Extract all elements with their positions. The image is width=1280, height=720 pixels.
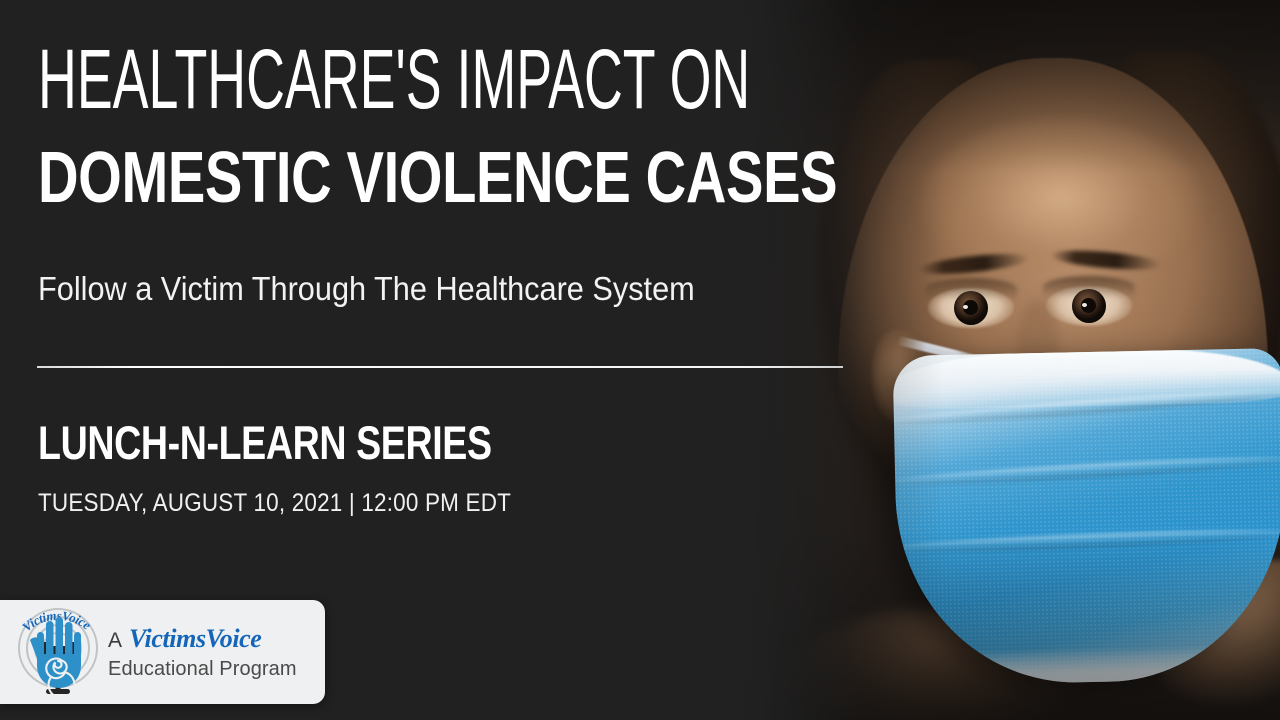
event-datetime: TUESDAY, AUGUST 10, 2021 | 12:00 PM EDT <box>38 489 511 518</box>
badge-prefix: A <box>108 630 122 651</box>
poster-canvas: HEALTHCARE'S IMPACT ON DOMESTIC VIOLENCE… <box>0 0 1280 720</box>
badge-text-block: A VictimsVoice Educational Program <box>108 626 297 679</box>
masked-woman-photo <box>720 0 1280 720</box>
eyelid-left <box>925 278 1017 300</box>
badge-brand-name: VictimsVoice <box>129 626 261 652</box>
victimsvoice-logo-badge: VictimsVoice <box>0 600 325 704</box>
headline-line-1: HEALTHCARE'S IMPACT ON <box>38 38 750 120</box>
eye-glint-left <box>963 305 968 309</box>
headline-line-2: DOMESTIC VIOLENCE CASES <box>38 142 837 214</box>
eye-glint-right <box>1082 303 1087 307</box>
victimsvoice-logo-icon: VictimsVoice <box>10 602 106 702</box>
eyelid-right <box>1043 276 1135 298</box>
mask-pleat <box>893 452 1280 489</box>
mask-pleat <box>893 526 1280 556</box>
mask-nose-band <box>893 348 1280 410</box>
badge-tagline: Educational Program <box>108 659 297 679</box>
surgical-mask <box>893 348 1280 686</box>
mask-pleat <box>893 385 1280 430</box>
divider-rule <box>37 366 843 368</box>
subheadline: Follow a Victim Through The Healthcare S… <box>38 270 695 308</box>
series-title: LUNCH-N-LEARN SERIES <box>38 415 492 470</box>
badge-line-one: A VictimsVoice <box>108 626 297 652</box>
